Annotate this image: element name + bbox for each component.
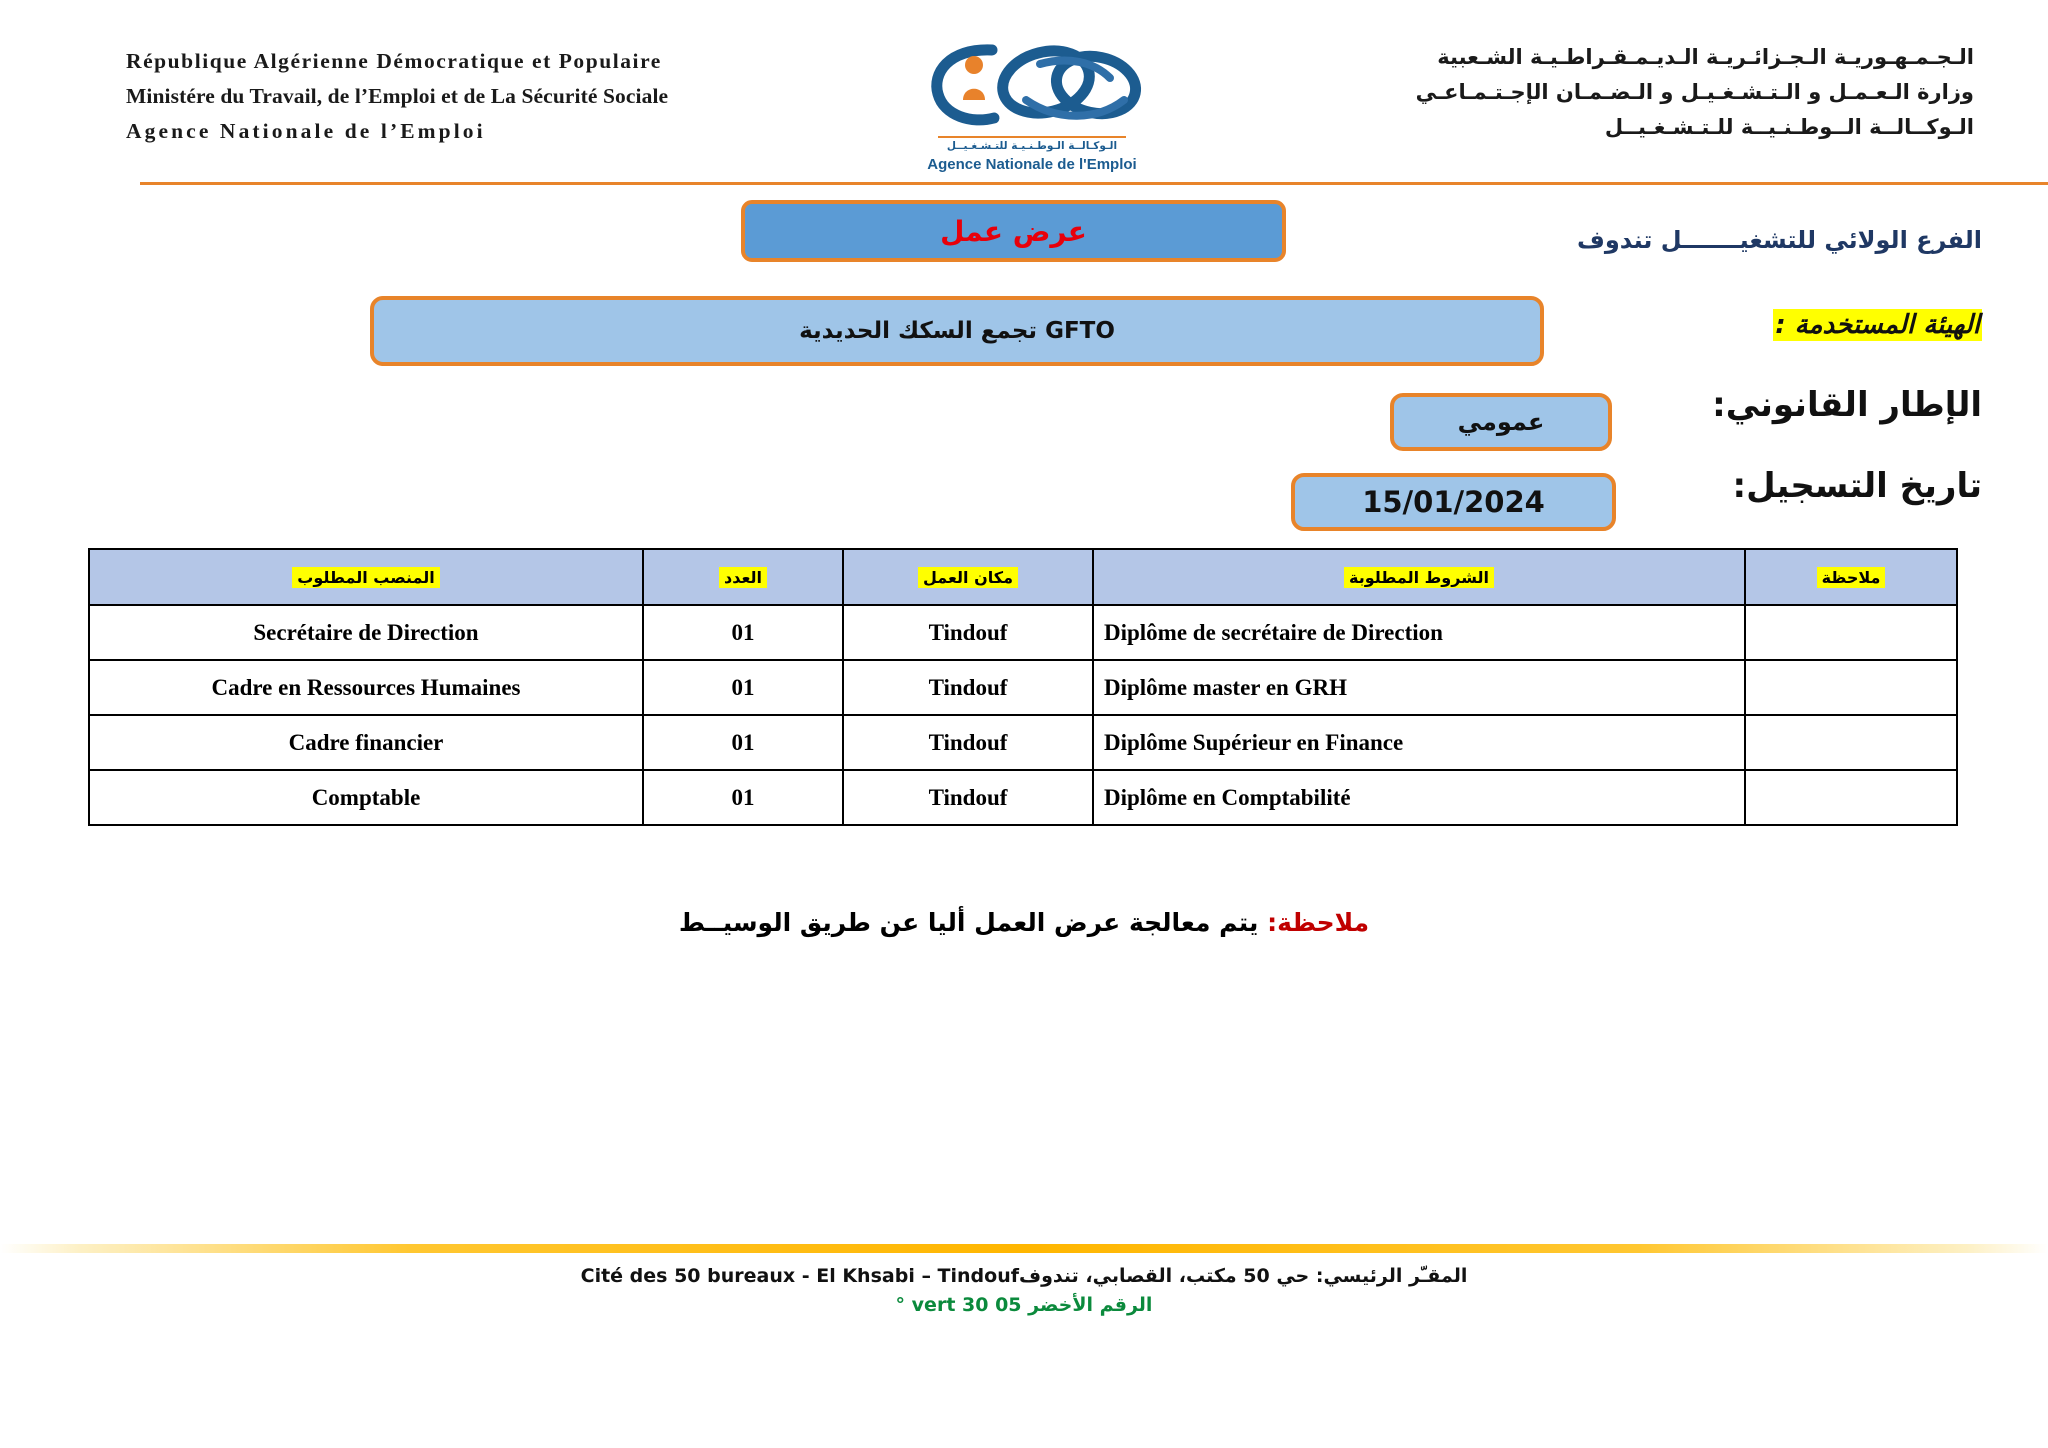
- table-row: Diplôme en Comptabilité Tindouf 01 Compt…: [89, 770, 1957, 825]
- offer-title-text: عرض عمل: [940, 215, 1087, 248]
- processing-note-body: يتم معالجة عرض العمل أليا عن طريق الوسيـ…: [679, 908, 1259, 937]
- header-arabic-line-2: وزارة الـعـمـل و الـتـشـغـيـل و الـضـمـا…: [1214, 75, 1974, 110]
- table-row: Diplôme master en GRH Tindouf 01 Cadre e…: [89, 660, 1957, 715]
- cell-count: 01: [643, 715, 843, 770]
- offer-title-banner: عرض عمل: [741, 200, 1286, 262]
- cell-place: Tindouf: [843, 660, 1093, 715]
- anem-logo: الـوكـالــة الـوطـنـيـة للتـشـغـيــل Age…: [912, 38, 1160, 180]
- column-header-conditions: الشروط المطلوبة: [1093, 549, 1745, 605]
- cell-post: Cadre financier: [89, 715, 643, 770]
- cell-conditions: Diplôme de secrétaire de Direction: [1093, 605, 1745, 660]
- column-header-post: المنصب المطلوب: [89, 549, 643, 605]
- cell-conditions: Diplôme master en GRH: [1093, 660, 1745, 715]
- table-body: Diplôme de secrétaire de Direction Tindo…: [89, 605, 1957, 825]
- footer-address-line: المقـّر الرئيسي: حي 50 مكتب، القصابي، تن…: [0, 1262, 2048, 1291]
- document-header: République Algérienne Démocratique et Po…: [0, 0, 2048, 182]
- column-header-place: مكان العمل: [843, 549, 1093, 605]
- header-arabic-line-1: الـجـمـهـوريـة الـجـزائـريـة الـديـمـقـر…: [1214, 40, 1974, 75]
- cell-note: [1745, 605, 1957, 660]
- registration-date-value-text: 15/01/2024: [1362, 485, 1545, 519]
- registration-date-label: تاريخ التسجيل:: [1733, 466, 1982, 506]
- cell-note: [1745, 715, 1957, 770]
- cell-conditions: Diplôme Supérieur en Finance: [1093, 715, 1745, 770]
- header-divider: [140, 182, 2048, 185]
- table-row: Diplôme de secrétaire de Direction Tindo…: [89, 605, 1957, 660]
- header-arabic-line-3: الـوكــالــة الــوطـنـيــة للـتـشـغـيــل: [1214, 110, 1974, 145]
- legal-framework-value-text: عمومي: [1458, 408, 1545, 436]
- processing-note-keyword: ملاحظة:: [1267, 908, 1369, 937]
- document-footer: المقـّر الرئيسي: حي 50 مكتب، القصابي، تن…: [0, 1262, 2048, 1321]
- employer-banner: GFTO تجمع السكك الحديدية: [370, 296, 1544, 366]
- employer-label: الهيئة المستخدمة :: [1773, 310, 1982, 340]
- cell-note: [1745, 660, 1957, 715]
- legal-framework-label: الإطار القانوني:: [1712, 385, 1982, 425]
- header-french-block: République Algérienne Démocratique et Po…: [126, 44, 886, 148]
- cell-conditions: Diplôme en Comptabilité: [1093, 770, 1745, 825]
- header-arabic-block: الـجـمـهـوريـة الـجـزائـريـة الـديـمـقـر…: [1214, 40, 1974, 145]
- header-french-line-3: Agence Nationale de l’Emploi: [126, 114, 886, 149]
- processing-note: ملاحظة: يتم معالجة عرض العمل أليا عن طري…: [0, 908, 2048, 937]
- header-french-line-2: Ministére du Travail, de l’Emploi et de …: [126, 79, 886, 114]
- column-header-note: ملاحظة: [1745, 549, 1957, 605]
- footer-green-number: الرقم الأخضر vert 30 05 °: [0, 1291, 2048, 1320]
- cell-note: [1745, 770, 1957, 825]
- logo-divider: [938, 136, 1126, 138]
- header-french-line-1: République Algérienne Démocratique et Po…: [126, 44, 886, 79]
- logo-arabic-caption: الـوكـالــة الـوطـنـيـة للتـشـغـيــل: [912, 140, 1152, 152]
- cell-post: Cadre en Ressources Humaines: [89, 660, 643, 715]
- employer-label-text: الهيئة المستخدمة :: [1773, 309, 1982, 341]
- footer-address-arabic: المقـّر الرئيسي: حي 50 مكتب، القصابي، تن…: [1019, 1265, 1467, 1287]
- cell-place: Tindouf: [843, 770, 1093, 825]
- branch-label: الفرع الولائي للتشغيـــــــل تندوف: [1577, 226, 1982, 254]
- footer-divider: [0, 1244, 2048, 1253]
- anem-logo-icon: [918, 38, 1154, 134]
- cell-count: 01: [643, 770, 843, 825]
- column-header-count: العدد: [643, 549, 843, 605]
- footer-address-french: Cité des 50 bureaux - El Khsabi – Tindou…: [581, 1265, 1019, 1287]
- table-row: Diplôme Supérieur en Finance Tindouf 01 …: [89, 715, 1957, 770]
- cell-count: 01: [643, 660, 843, 715]
- cell-post: Secrétaire de Direction: [89, 605, 643, 660]
- logo-french-caption: Agence Nationale de l'Emploi: [912, 156, 1152, 173]
- legal-framework-value-box: عمومي: [1390, 393, 1612, 451]
- registration-date-value-box: 15/01/2024: [1291, 473, 1616, 531]
- cell-count: 01: [643, 605, 843, 660]
- table-head: ملاحظة الشروط المطلوبة مكان العمل العدد …: [89, 549, 1957, 605]
- cell-post: Comptable: [89, 770, 643, 825]
- employer-name-text: GFTO تجمع السكك الحديدية: [799, 318, 1115, 344]
- job-offers-table: ملاحظة الشروط المطلوبة مكان العمل العدد …: [88, 548, 1958, 826]
- cell-place: Tindouf: [843, 605, 1093, 660]
- cell-place: Tindouf: [843, 715, 1093, 770]
- table-header-row: ملاحظة الشروط المطلوبة مكان العمل العدد …: [89, 549, 1957, 605]
